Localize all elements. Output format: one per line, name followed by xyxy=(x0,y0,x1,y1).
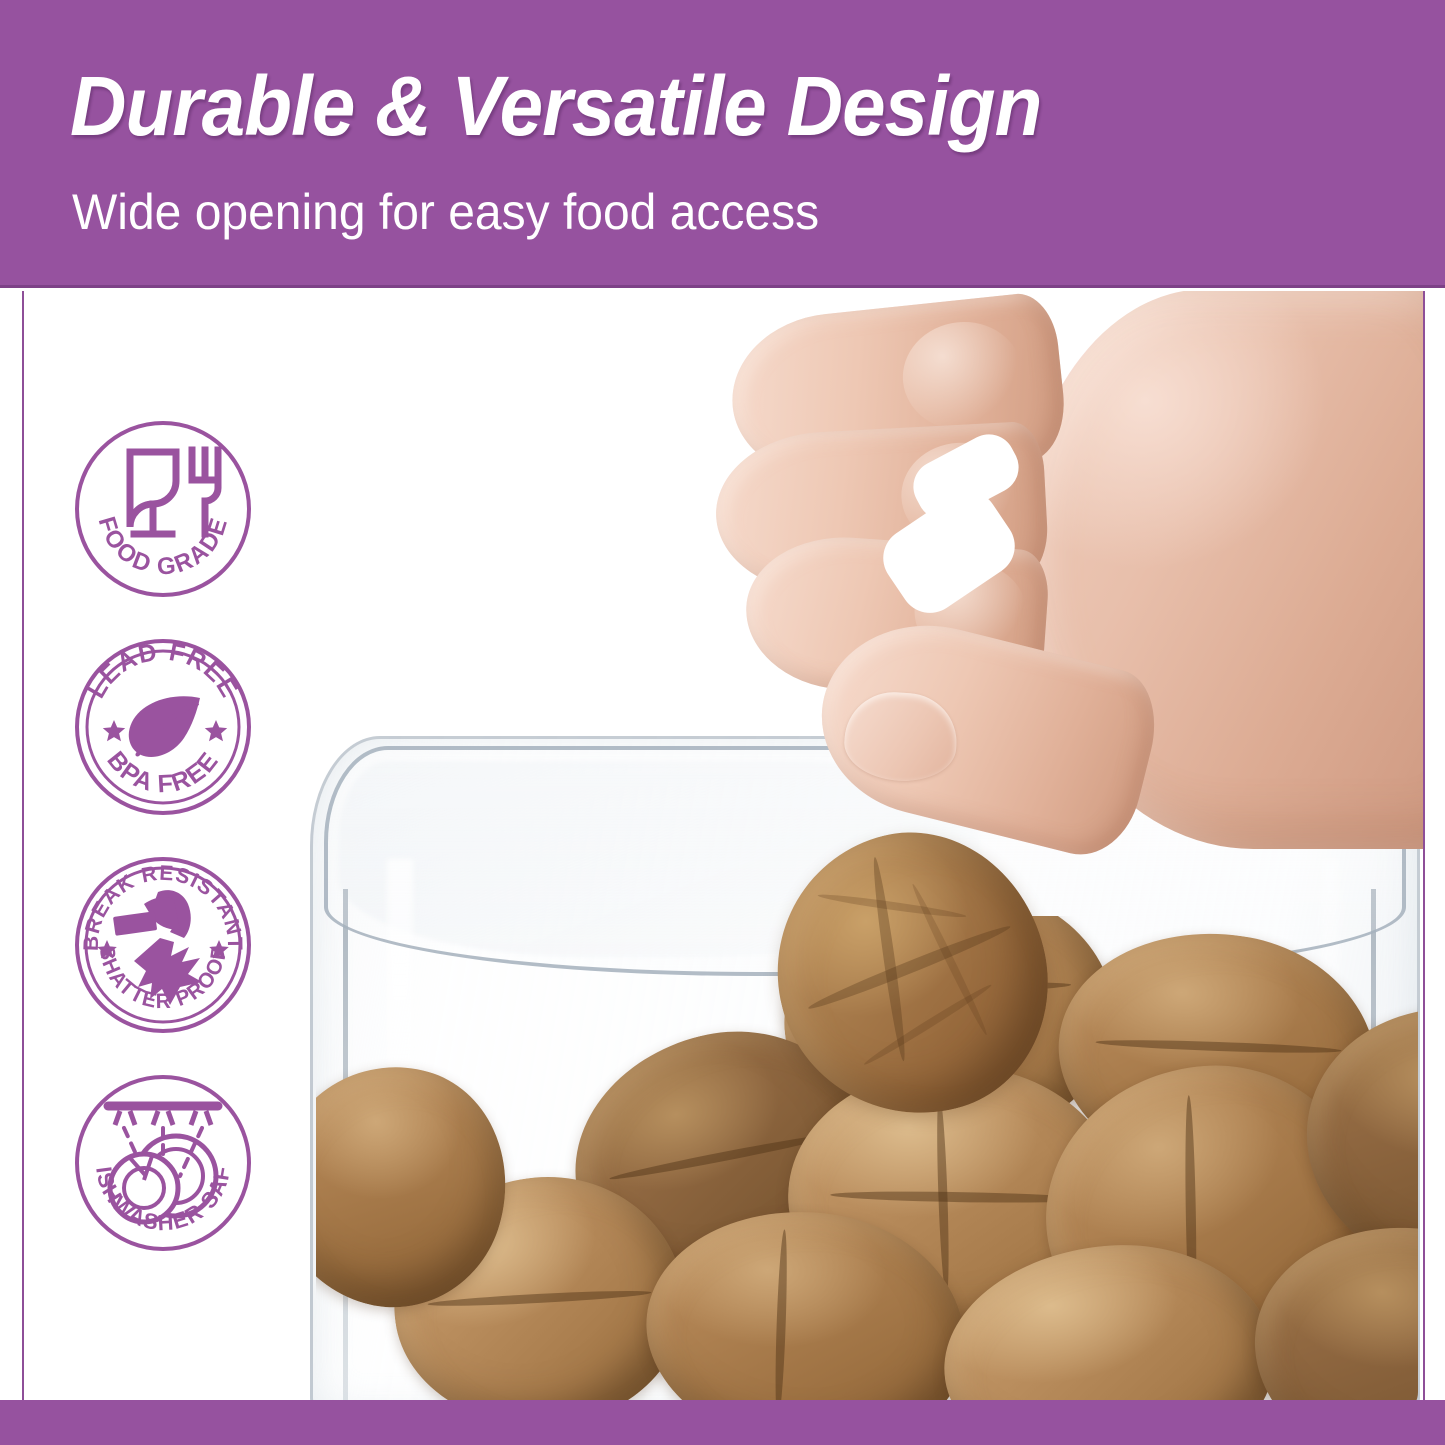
badge-break-resistant: BREAK RESISTANT SHATTER PROOF xyxy=(72,854,254,1036)
glass-and-fork-icon xyxy=(130,450,218,534)
svg-text:FOOD GRADE: FOOD GRADE xyxy=(93,513,234,580)
badge-dishwasher-safe: DISHWASHER SAFE xyxy=(72,1072,254,1254)
header-band: Durable & Versatile Design Wide opening … xyxy=(0,0,1445,288)
badge-food-grade-label: FOOD GRADE xyxy=(93,513,234,580)
product-feature-card: Durable & Versatile Design Wide opening … xyxy=(0,0,1445,1445)
frame-rule-right xyxy=(1423,291,1425,1400)
badge-lead-free-bpa-free: LEAD FREE BPA FREE xyxy=(72,636,254,818)
badge-food-grade: FOOD GRADE xyxy=(72,418,254,600)
svg-text:LEAD FREE: LEAD FREE xyxy=(82,638,244,703)
page-subtitle: Wide opening for easy food access xyxy=(72,182,819,242)
certification-badges: FOOD GRADE xyxy=(72,418,272,1290)
thumbnail xyxy=(842,689,960,785)
badge-lead-free-label: LEAD FREE xyxy=(82,638,244,703)
hand xyxy=(690,291,1423,919)
leaf-icon xyxy=(129,696,200,757)
page-title: Durable & Versatile Design xyxy=(70,58,1041,154)
footer-band xyxy=(0,1400,1445,1445)
